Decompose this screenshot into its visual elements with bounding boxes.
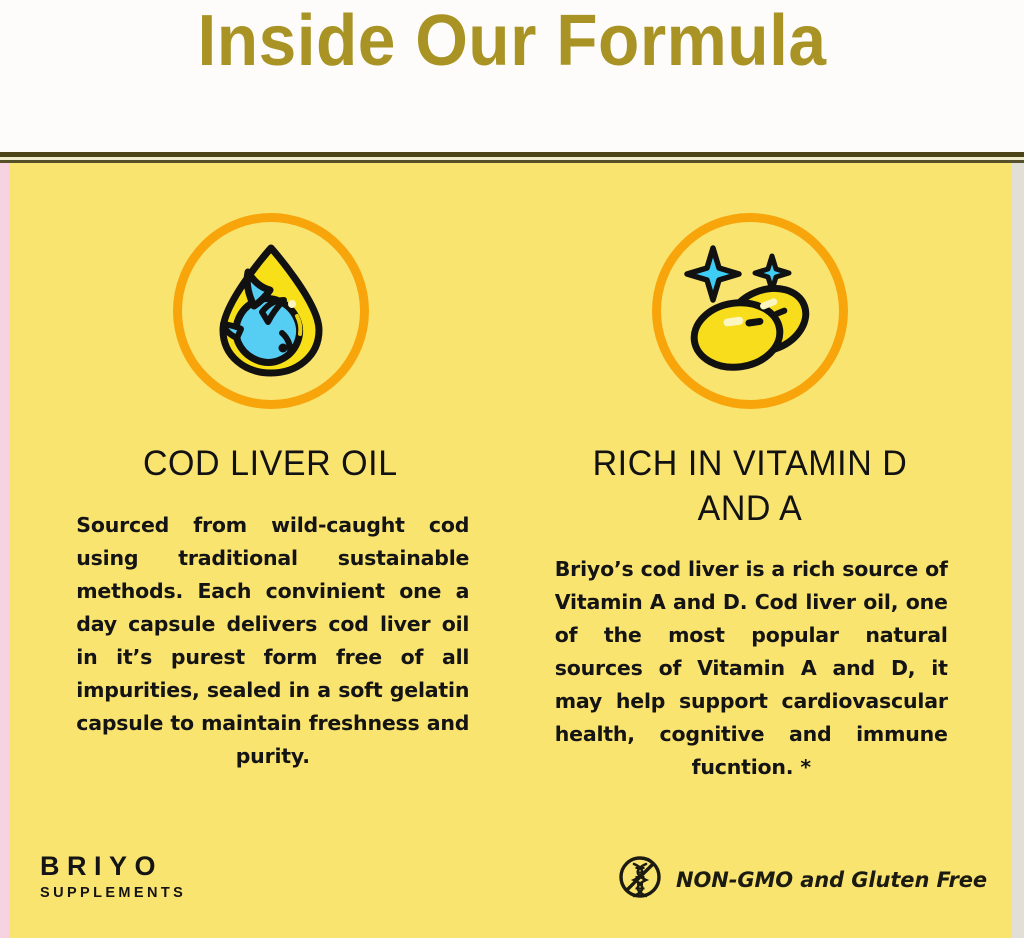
- feature-card-vitamin-d-and-a: RICH IN VITAMIN D AND A Briyo’s cod live…: [511, 163, 1013, 803]
- page-title: Inside Our Formula: [31, 0, 994, 84]
- panel-edge-strip-right: [1012, 163, 1024, 938]
- brand-name: BRIYO: [40, 851, 186, 881]
- brand-tagline: SUPPLEMENTS: [40, 883, 186, 903]
- feature-heading: COD LIVER OIL: [143, 441, 398, 487]
- feature-heading: RICH IN VITAMIN D AND A: [566, 441, 935, 531]
- brand-logo: BRIYO SUPPLEMENTS: [40, 851, 186, 903]
- fish-oil-drop-icon: [196, 234, 346, 389]
- non-gmo-label: NON-GMO and Gluten Free: [676, 868, 987, 892]
- non-gmo-badge: NON-GMO and Gluten Free: [617, 854, 987, 905]
- header-band: Inside Our Formula: [0, 0, 1024, 152]
- feature-body-text: Sourced from wild-caught cod using tradi…: [76, 509, 469, 773]
- no-gmo-dna-icon: [617, 854, 663, 905]
- softgel-capsules-icon: [675, 234, 825, 389]
- footer: BRIYO SUPPLEMENTS NON-GMO and Gluten Fre…: [9, 838, 1012, 938]
- feature-columns: COD LIVER OIL Sourced from wild-caught c…: [9, 163, 1012, 803]
- panel-edge-strip-left: [0, 163, 9, 938]
- feature-icon-ring: [652, 213, 848, 409]
- feature-icon-ring: [173, 213, 369, 409]
- feature-body-text: Briyo’s cod liver is a rich source of Vi…: [555, 553, 948, 784]
- feature-card-cod-liver-oil: COD LIVER OIL Sourced from wild-caught c…: [9, 163, 511, 803]
